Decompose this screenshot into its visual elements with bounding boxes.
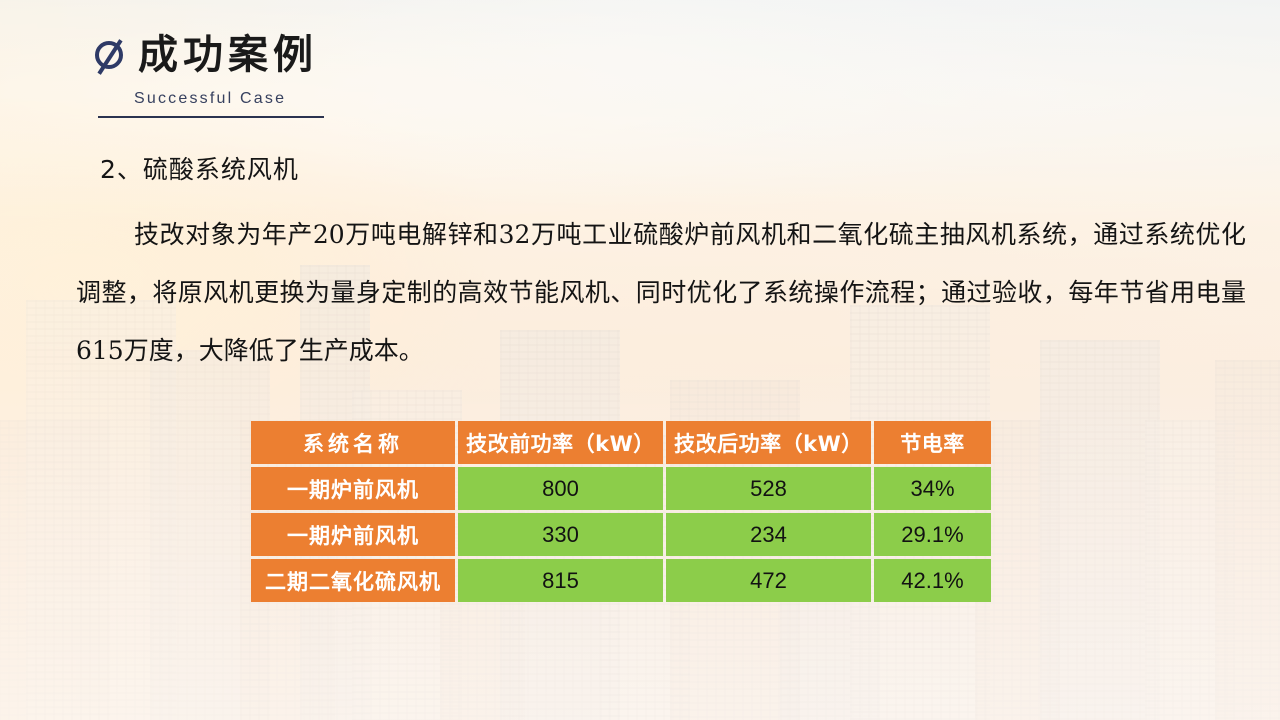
section-heading: 2、硫酸系统风机 (100, 150, 299, 186)
results-table: 系统名称 技改前功率（kW） 技改后功率（kW） 节电率 一期炉前风机 800 … (248, 418, 994, 605)
table-body: 一期炉前风机 800 528 34% 一期炉前风机 330 234 29.1% … (251, 467, 991, 602)
table-row: 一期炉前风机 330 234 29.1% (251, 513, 991, 556)
cell-saving-rate: 34% (874, 467, 991, 510)
cell-system-name: 一期炉前风机 (251, 467, 455, 510)
cell-power-after: 472 (666, 559, 871, 602)
column-header-power-after: 技改后功率（kW） (666, 421, 871, 464)
column-header-saving-rate: 节电率 (874, 421, 991, 464)
body-paragraph: 技改对象为年产20万吨电解锌和32万吨工业硫酸炉前风机和二氧化硫主抽风机系统，通… (76, 206, 1246, 380)
page-subtitle: Successful Case (134, 90, 512, 108)
title-divider (98, 116, 324, 118)
table-head: 系统名称 技改前功率（kW） 技改后功率（kW） 节电率 (251, 421, 991, 464)
page-title: 成功案例 (138, 35, 318, 75)
title-row: 成功案例 (92, 34, 512, 76)
cell-system-name: 二期二氧化硫风机 (251, 559, 455, 602)
cell-saving-rate: 42.1% (874, 559, 991, 602)
cell-power-before: 815 (458, 559, 663, 602)
table-row: 二期二氧化硫风机 815 472 42.1% (251, 559, 991, 602)
column-header-system-name: 系统名称 (251, 421, 455, 464)
cell-power-before: 800 (458, 467, 663, 510)
cell-system-name: 一期炉前风机 (251, 513, 455, 556)
slide-root: 成功案例 Successful Case 2、硫酸系统风机 技改对象为年产20万… (0, 0, 1280, 720)
table-header-row: 系统名称 技改前功率（kW） 技改后功率（kW） 节电率 (251, 421, 991, 464)
cell-power-before: 330 (458, 513, 663, 556)
cell-saving-rate: 29.1% (874, 513, 991, 556)
slide-header: 成功案例 Successful Case (92, 34, 512, 118)
cell-power-after: 528 (666, 467, 871, 510)
table-row: 一期炉前风机 800 528 34% (251, 467, 991, 510)
column-header-power-before: 技改前功率（kW） (458, 421, 663, 464)
cell-power-after: 234 (666, 513, 871, 556)
slashed-circle-icon (92, 38, 130, 76)
